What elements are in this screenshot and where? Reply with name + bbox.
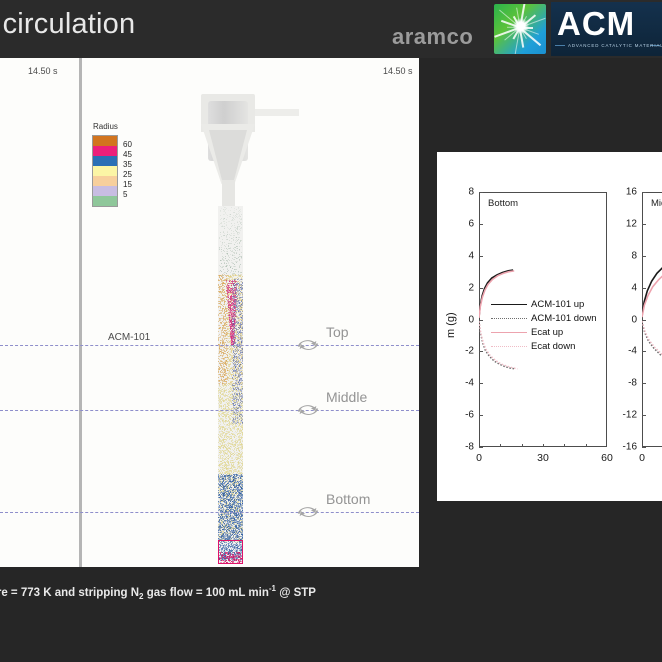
plot-legend-label: Ecat up [531, 327, 563, 338]
circulation-cycle-icon [295, 334, 321, 356]
plot-legend-label: Ecat down [531, 341, 575, 352]
x-tick-label: 0 [476, 452, 482, 464]
aramco-logo-text: aramco [392, 24, 473, 50]
y-tickmark [479, 447, 483, 448]
radius-legend-swatch [93, 186, 117, 196]
radius-legend-label: 5 [123, 190, 127, 199]
plot-legend-swatch [491, 346, 527, 347]
y-tick-label: -16 [623, 442, 637, 453]
series-acm-101-up [642, 254, 662, 316]
zone-label-middle: Middle [326, 389, 367, 405]
y-tick-label: -6 [465, 410, 474, 421]
zone-label-bottom: Bottom [326, 491, 370, 507]
time-label-left: 14.50 s [28, 66, 58, 76]
y-tick-label: 6 [468, 218, 474, 229]
plot-legend-item: ACM-101 up [491, 298, 596, 312]
y-tick-label: -8 [628, 378, 637, 389]
plot-legend-label: ACM-101 down [531, 313, 596, 324]
x-tick-label: 0 [639, 452, 645, 464]
panel-divider [79, 58, 82, 567]
radius-legend: Radius 60453525155 [92, 122, 123, 207]
inset-chart-card: Bottom86420-2-4-6-803060m (g)ACM-101 upA… [437, 152, 662, 501]
plot-legend-item: Ecat down [491, 340, 596, 354]
level-line-top [0, 345, 419, 346]
time-label-right: 14.50 s [383, 66, 413, 76]
radius-legend-swatch [93, 146, 117, 156]
radius-legend-label: 35 [123, 160, 132, 169]
level-line-middle [0, 410, 419, 411]
y-tickmark [642, 447, 646, 448]
y-tick-label: -4 [465, 378, 474, 389]
plot-legend: ACM-101 upACM-101 downEcat upEcat down [491, 298, 596, 354]
plot-legend-swatch [491, 304, 527, 305]
x-tick-label: 60 [601, 452, 613, 464]
y-tick-label: 2 [468, 282, 474, 293]
plot-legend-swatch [491, 318, 527, 319]
y-tick-label: 8 [468, 187, 474, 198]
radius-legend-label: 60 [123, 140, 132, 149]
dilute-particle-region [219, 206, 242, 276]
material-label: ACM-101 [108, 332, 150, 343]
y-tick-label: -12 [623, 410, 637, 421]
reactor-outlet-pipe [253, 109, 299, 116]
caption-superscript: -1 [269, 584, 276, 593]
page-title: e circulation [0, 8, 135, 41]
acm-logo: ACM ADVANCED CATALYTIC MATERIALS [551, 2, 662, 56]
y-tick-label: 8 [631, 250, 637, 261]
level-line-bottom [0, 512, 419, 513]
radius-legend-swatch [93, 176, 117, 186]
simulation-panel: 14.50 s 14.50 s Radius 60453525155 [0, 58, 419, 567]
x-tick-label: 30 [537, 452, 549, 464]
slide-caption: ture = 773 K and stripping N2 gas flow =… [0, 584, 316, 601]
slide-header: e circulation aramco ACM ADVANCED CATALY… [0, 0, 662, 58]
radius-legend-label: 15 [123, 180, 132, 189]
slide-root: e circulation aramco ACM ADVANCED CATALY… [0, 0, 662, 662]
y-tick-label: -2 [465, 346, 474, 357]
plot-legend-label: ACM-101 up [531, 299, 584, 310]
acm-logo-subtitle: ADVANCED CATALYTIC MATERIALS [568, 43, 662, 48]
y-tick-label: 4 [468, 250, 474, 261]
caption-part-2: gas flow = 100 mL min [144, 587, 269, 599]
bed-bottom-rim [218, 540, 243, 564]
y-axis-label: m (g) [445, 312, 457, 338]
chart-bottom: Bottom86420-2-4-6-803060m (g)ACM-101 upA… [479, 192, 607, 447]
radius-legend-label: 45 [123, 150, 132, 159]
chart-middle: Middle1612840-4-8-12-160 [642, 192, 662, 447]
y-tick-label: 16 [626, 187, 637, 198]
zone-label-top: Top [326, 324, 349, 340]
y-tick-label: 0 [631, 314, 637, 325]
circulation-cycle-icon [295, 399, 321, 421]
radius-legend-label: 25 [123, 170, 132, 179]
y-tick-label: 12 [626, 218, 637, 229]
radius-legend-swatch [93, 156, 117, 166]
particle-bed [218, 274, 243, 564]
radius-legend-swatch [93, 196, 117, 206]
radius-legend-swatch [93, 136, 117, 146]
y-tick-label: -4 [628, 346, 637, 357]
caption-part-1: ture = 773 K and stripping N [0, 587, 139, 599]
plot-legend-item: ACM-101 down [491, 312, 596, 326]
radius-legend-title: Radius [93, 122, 123, 131]
series-ecat-up [642, 257, 662, 317]
acm-starburst-icon [494, 4, 546, 54]
plot-legend-swatch [491, 332, 527, 333]
acm-logo-text: ACM [557, 7, 635, 40]
plot-legend-item: Ecat up [491, 326, 596, 340]
y-tick-label: 4 [631, 282, 637, 293]
caption-part-3: @ STP [276, 587, 316, 599]
reactor-vessel-graphic [196, 94, 292, 564]
radius-legend-swatch [93, 166, 117, 176]
y-tick-label: 0 [468, 314, 474, 325]
circulation-cycle-icon [295, 501, 321, 523]
plot-series-layer [642, 192, 662, 447]
radius-legend-colorbar [92, 135, 118, 207]
y-tick-label: -8 [465, 442, 474, 453]
